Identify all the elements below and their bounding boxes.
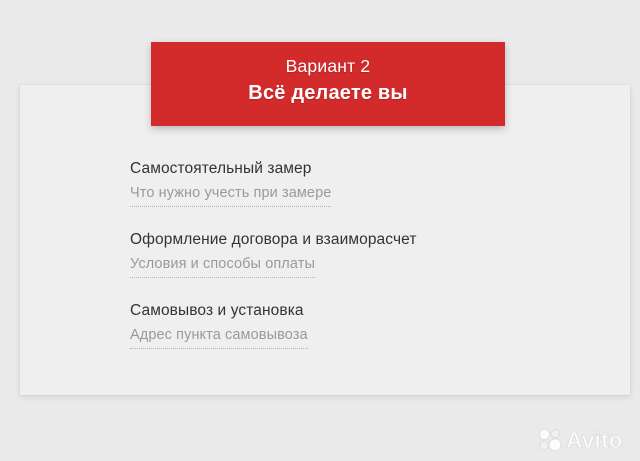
list-item: Самостоятельный замер Что нужно учесть п… bbox=[130, 158, 530, 207]
avito-dots-logo-icon bbox=[537, 427, 563, 453]
list-item: Самовывоз и установка Адрес пункта самов… bbox=[130, 300, 530, 349]
banner-headline: Всё делаете вы bbox=[151, 79, 505, 107]
step-link[interactable]: Условия и способы оплаты bbox=[130, 254, 315, 278]
step-title: Самостоятельный замер bbox=[130, 158, 530, 180]
steps-list: Самостоятельный замер Что нужно учесть п… bbox=[130, 158, 530, 349]
avito-wordmark: Avito bbox=[566, 427, 632, 453]
page-background: Вариант 2 Всё делаете вы Самостоятельный… bbox=[0, 0, 640, 461]
step-title: Оформление договора и взаиморасчет bbox=[130, 229, 530, 251]
list-item: Оформление договора и взаиморасчет Услов… bbox=[130, 229, 530, 278]
step-link[interactable]: Адрес пункта самовывоза bbox=[130, 325, 308, 349]
step-title: Самовывоз и установка bbox=[130, 300, 530, 322]
step-link[interactable]: Что нужно учесть при замере bbox=[130, 183, 331, 207]
avito-watermark: Avito bbox=[537, 427, 632, 453]
svg-text:Avito: Avito bbox=[566, 427, 623, 453]
banner-variant-label: Вариант 2 bbox=[151, 53, 505, 79]
variant-banner: Вариант 2 Всё делаете вы bbox=[151, 42, 505, 126]
